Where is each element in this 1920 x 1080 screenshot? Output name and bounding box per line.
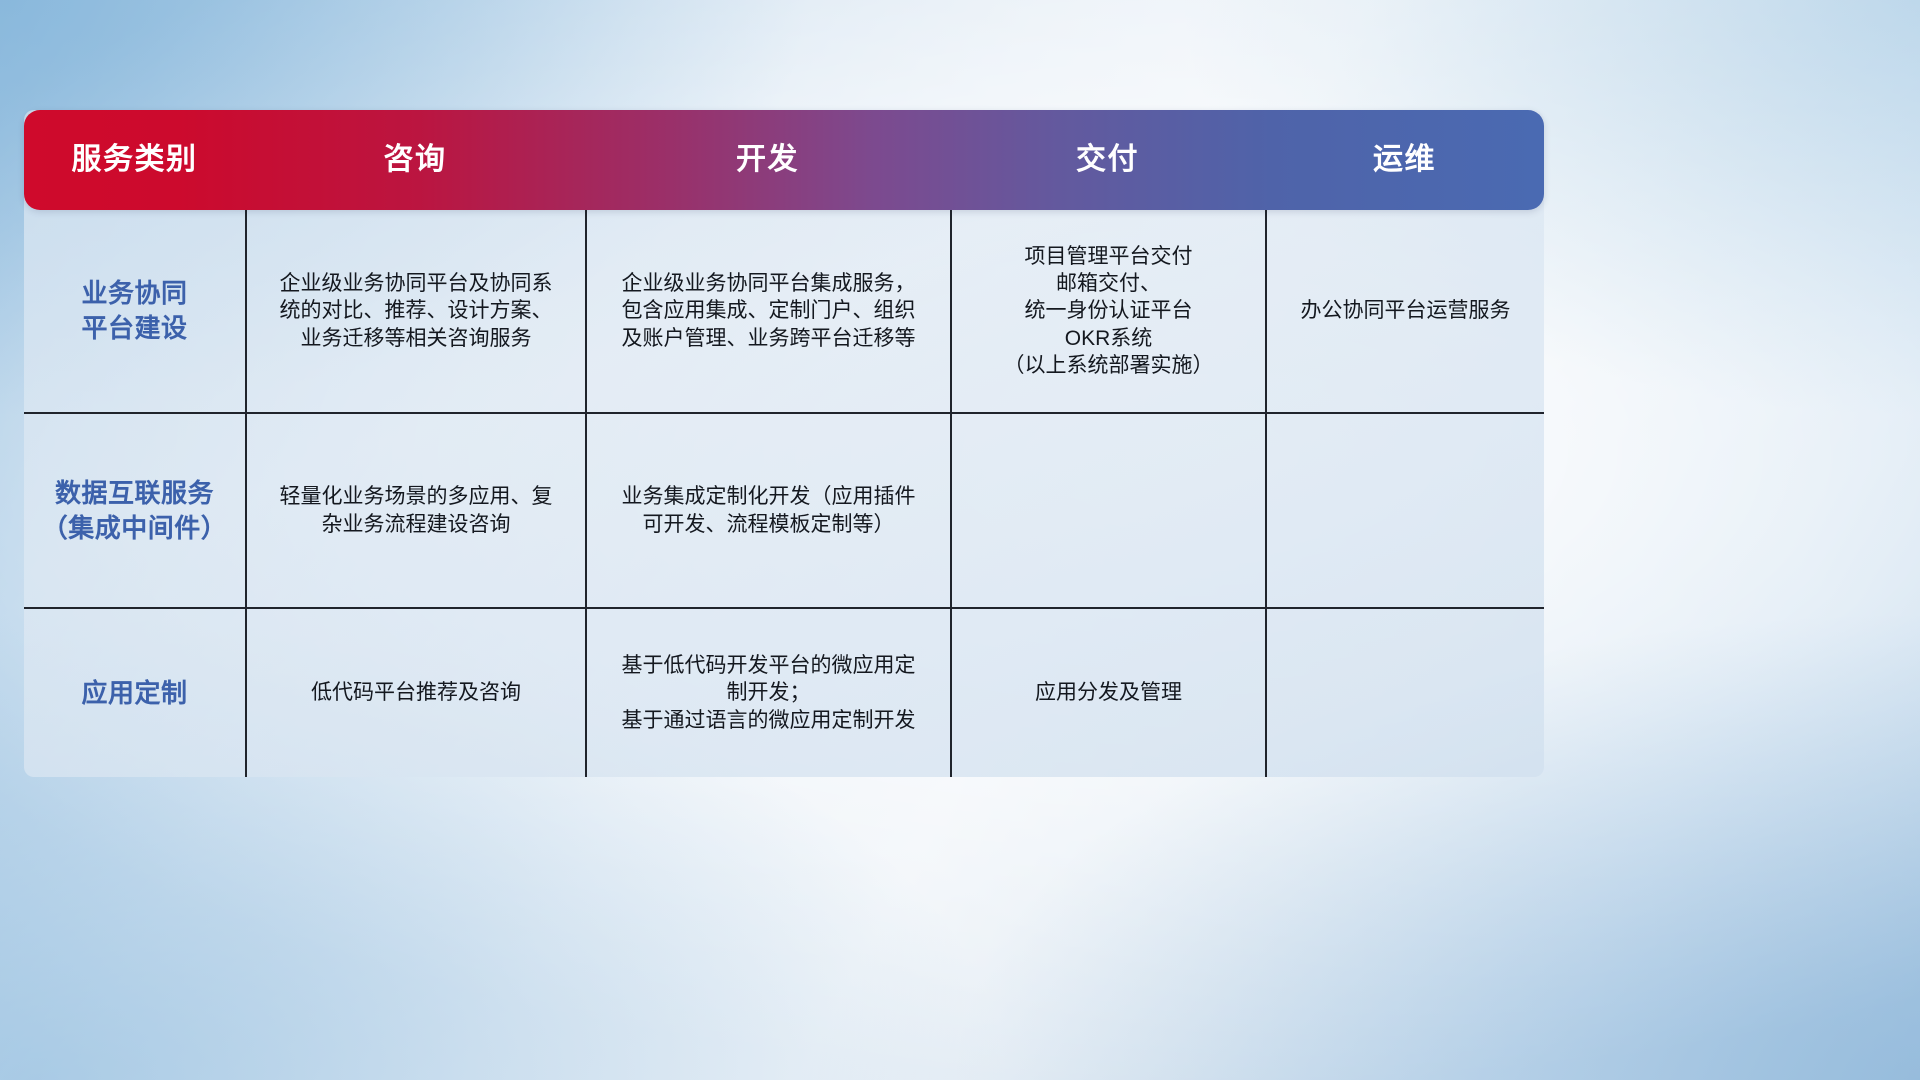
cell-development-row-1: 企业级业务协同平台集成服务， 包含应用集成、定制门户、组织 及账户管理、业务跨平… xyxy=(585,210,950,412)
column-header-consulting: 咨询 xyxy=(245,145,585,175)
cell-delivery-row-2 xyxy=(950,414,1265,607)
column-header-operations: 运维 xyxy=(1265,145,1544,175)
cell-development-row-3: 基于低代码开发平台的微应用定 制开发； 基于通过语言的微应用定制开发 xyxy=(585,609,950,777)
row-label-data-interconnect: 数据互联服务 （集成中间件） xyxy=(24,414,245,607)
cell-operations-row-1: 办公协同平台运营服务 xyxy=(1265,210,1544,412)
column-header-delivery: 交付 xyxy=(950,145,1265,175)
column-header-category: 服务类别 xyxy=(24,145,245,175)
cell-consulting-row-3: 低代码平台推荐及咨询 xyxy=(245,609,585,777)
cell-development-row-2: 业务集成定制化开发（应用插件 可开发、流程模板定制等） xyxy=(585,414,950,607)
cell-operations-row-3 xyxy=(1265,609,1544,777)
row-label-app-customization: 应用定制 xyxy=(24,609,245,777)
slide-canvas: 服务类别 咨询 开发 交付 运维 业务协同 平台建设 企业级业务协同平台及协同系… xyxy=(0,0,1920,1080)
table-row: 业务协同 平台建设 企业级业务协同平台及协同系 统的对比、推荐、设计方案、 业务… xyxy=(24,210,1544,412)
table-header-row: 服务类别 咨询 开发 交付 运维 xyxy=(24,110,1544,210)
table-row: 应用定制 低代码平台推荐及咨询 基于低代码开发平台的微应用定 制开发； 基于通过… xyxy=(24,607,1544,777)
cell-delivery-row-1: 项目管理平台交付 邮箱交付、 统一身份认证平台 OKR系统 （以上系统部署实施） xyxy=(950,210,1265,412)
row-label-business-collaboration: 业务协同 平台建设 xyxy=(24,210,245,412)
service-matrix-table: 服务类别 咨询 开发 交付 运维 业务协同 平台建设 企业级业务协同平台及协同系… xyxy=(24,110,1544,777)
table-body: 业务协同 平台建设 企业级业务协同平台及协同系 统的对比、推荐、设计方案、 业务… xyxy=(24,210,1544,777)
cell-operations-row-2 xyxy=(1265,414,1544,607)
cell-delivery-row-3: 应用分发及管理 xyxy=(950,609,1265,777)
column-header-development: 开发 xyxy=(585,145,950,175)
cell-consulting-row-1: 企业级业务协同平台及协同系 统的对比、推荐、设计方案、 业务迁移等相关咨询服务 xyxy=(245,210,585,412)
table-row: 数据互联服务 （集成中间件） 轻量化业务场景的多应用、复 杂业务流程建设咨询 业… xyxy=(24,412,1544,607)
cell-consulting-row-2: 轻量化业务场景的多应用、复 杂业务流程建设咨询 xyxy=(245,414,585,607)
